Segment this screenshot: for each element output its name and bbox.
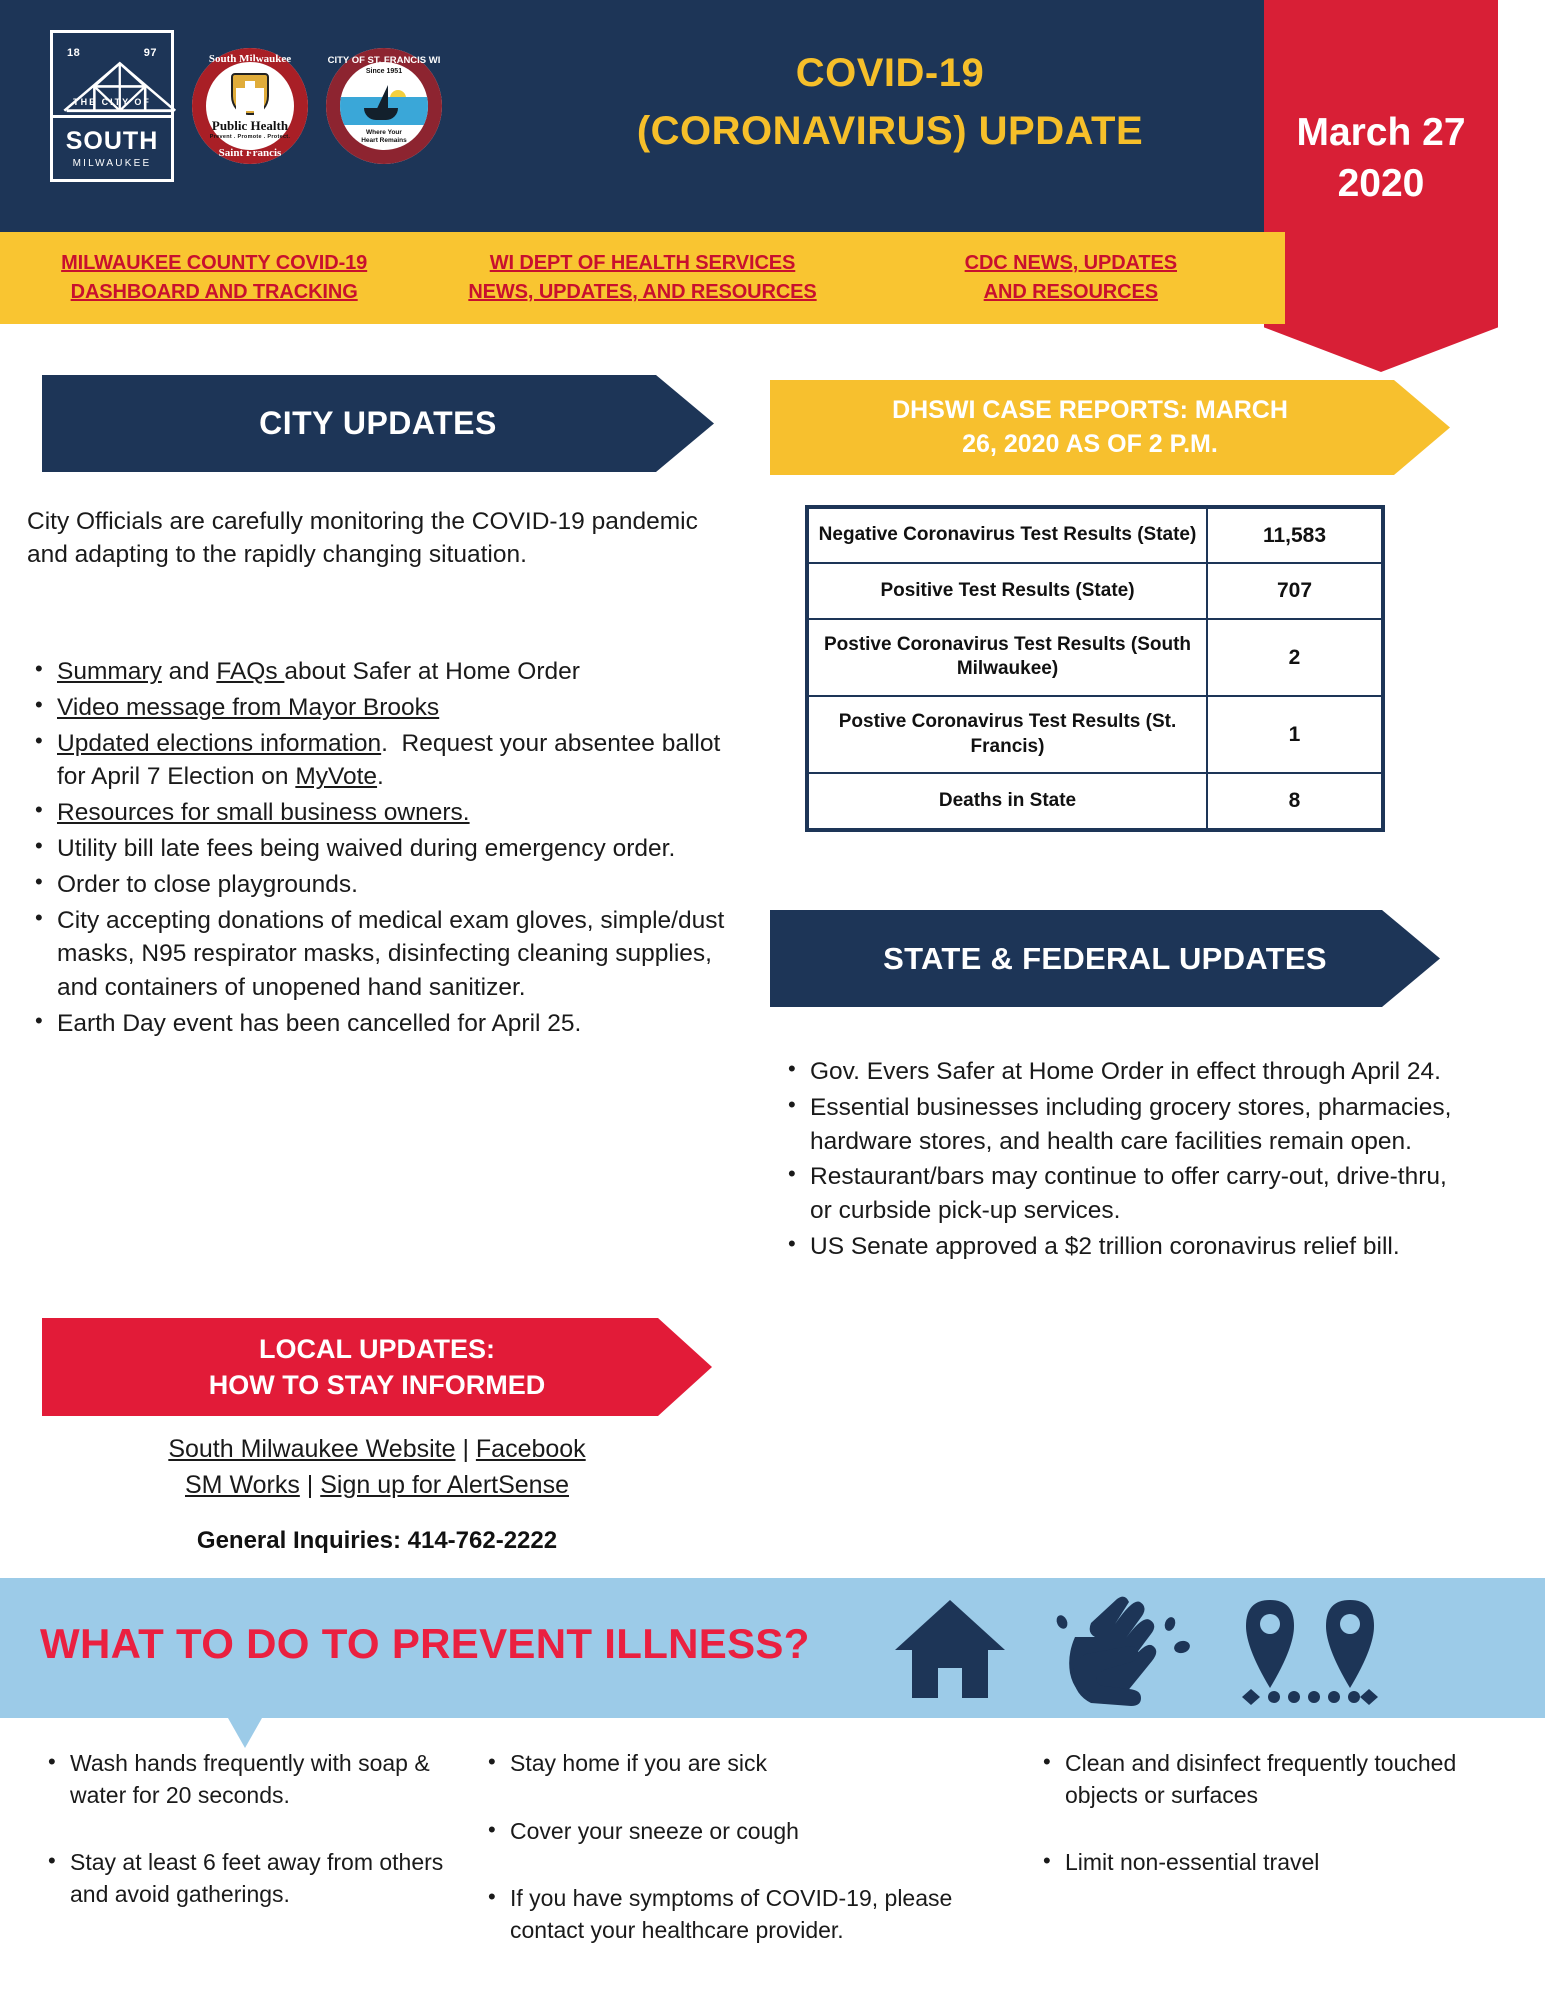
link-line-2: NEWS, UPDATES, AND RESOURCES xyxy=(428,278,856,307)
logo-bottom-panel: SOUTH MILWAUKEE xyxy=(53,118,171,179)
link-milwaukee-county-dashboard[interactable]: MILWAUKEE COUNTY COVID-19 DASHBOARD AND … xyxy=(0,249,428,307)
seal-inner: Since 1951 Where Your Heart Remains xyxy=(340,62,428,150)
table-row: Positive Test Results (State) 707 xyxy=(807,563,1383,618)
city-updates-banner-label: CITY UPDATES xyxy=(259,405,497,442)
list-item: Restaurant/bars may continue to offer ca… xyxy=(780,1160,1460,1228)
date-ribbon: March 27 2020 xyxy=(1264,0,1498,372)
link-cdc-news[interactable]: CDC NEWS, UPDATES AND RESOURCES xyxy=(857,249,1285,307)
logo-year-right: 97 xyxy=(144,47,157,59)
prevention-icons xyxy=(890,1592,1410,1707)
link-sm-works[interactable]: SM Works xyxy=(185,1471,300,1499)
link-wi-dhs-news[interactable]: WI DEPT OF HEALTH SERVICES NEWS, UPDATES… xyxy=(428,249,856,307)
public-health-title: Public Health xyxy=(212,118,288,134)
city-updates-banner: CITY UPDATES xyxy=(42,375,714,472)
link-line-1: MILWAUKEE COUNTY COVID-19 xyxy=(0,249,428,278)
list-item: Cover your sneeze or cough xyxy=(480,1816,1015,1848)
page-title: COVID-19 (CORONAVIRUS) UPDATE xyxy=(540,44,1240,160)
link-line-1: WI DEPT OF HEALTH SERVICES xyxy=(428,249,856,278)
link-faqs: FAQs xyxy=(216,658,284,685)
row-label: Postive Coronavirus Test Results (St. Fr… xyxy=(807,696,1207,773)
row-value: 2 xyxy=(1207,619,1383,696)
list-item: Clean and disinfect frequently touched o… xyxy=(1035,1748,1505,1811)
banner-notch xyxy=(228,1718,262,1748)
link-line-2: AND RESOURCES xyxy=(857,278,1285,307)
shield-cross-icon xyxy=(231,73,269,115)
list-item[interactable]: Summary and FAQs about Safer at Home Ord… xyxy=(27,655,747,689)
local-links: South Milwaukee Website | Facebook SM Wo… xyxy=(27,1432,727,1503)
link-line-1: CDC NEWS, UPDATES xyxy=(857,249,1285,278)
table-row: Deaths in State 8 xyxy=(807,773,1383,829)
list-item[interactable]: Updated elections information. Request y… xyxy=(27,727,747,795)
list-item: If you have symptoms of COVID-19, please… xyxy=(480,1883,1015,1946)
list-item[interactable]: Video message from Mayor Brooks xyxy=(27,691,747,725)
city-of-south-milwaukee-logo: 18 97 THE CITY OF SOUTH MILWAUKEE xyxy=(50,30,174,182)
case-reports-table: Negative Coronavirus Test Results (State… xyxy=(805,505,1385,832)
motto-line-2: Heart Remains xyxy=(340,137,428,145)
seal-inner: Public Health Prevent . Promote . Protec… xyxy=(205,61,295,151)
logo-top-panel: 18 97 THE CITY OF xyxy=(53,33,171,118)
row-label: Positive Test Results (State) xyxy=(807,563,1207,618)
logo-group: 18 97 THE CITY OF SOUTH MILWAUKEE xyxy=(50,30,442,182)
link-myvote: MyVote xyxy=(295,763,377,790)
list-item: Essential businesses including grocery s… xyxy=(780,1091,1460,1159)
row-value: 1 xyxy=(1207,696,1383,773)
list-item[interactable]: Resources for small business owners. xyxy=(27,796,747,830)
state-federal-updates-banner: STATE & FEDERAL UPDATES xyxy=(770,910,1440,1007)
prevent-illness-title: WHAT TO DO TO PREVENT ILLNESS? xyxy=(40,1620,810,1668)
row-label: Deaths in State xyxy=(807,773,1207,829)
prevention-column-3: Clean and disinfect frequently touched o… xyxy=(1015,1748,1505,1983)
home-icon xyxy=(895,1600,1005,1698)
page-title-line-2: (CORONAVIRUS) UPDATE xyxy=(540,102,1240,160)
local-banner-line-2: HOW TO STAY INFORMED xyxy=(209,1367,546,1403)
public-health-tagline: Prevent . Promote . Protect. xyxy=(210,134,291,140)
row-value: 11,583 xyxy=(1207,507,1383,563)
state-federal-list: Gov. Evers Safer at Home Order in effect… xyxy=(780,1055,1460,1266)
table-row: Negative Coronavirus Test Results (State… xyxy=(807,507,1383,563)
prevention-tips-columns: Wash hands frequently with soap & water … xyxy=(0,1748,1545,1983)
page-title-line-1: COVID-19 xyxy=(540,44,1240,102)
dhswi-banner-line-2: 26, 2020 AS OF 2 P.M. xyxy=(892,428,1288,462)
public-health-seal-logo: South Milwaukee Saint Francis Public Hea… xyxy=(192,48,308,164)
link-mayor-video: Video message from Mayor Brooks xyxy=(57,694,439,721)
link-summary: Summary xyxy=(57,658,162,685)
general-inquiries-phone: General Inquiries: 414-762-2222 xyxy=(27,1527,727,1555)
prevention-column-1: Wash hands frequently with soap & water … xyxy=(0,1748,470,1983)
table-row: Postive Coronavirus Test Results (St. Fr… xyxy=(807,696,1383,773)
link-alertsense[interactable]: Sign up for AlertSense xyxy=(320,1471,569,1499)
dhswi-case-reports-banner: DHSWI CASE REPORTS: MARCH 26, 2020 AS OF… xyxy=(770,380,1450,475)
list-item: Utility bill late fees being waived duri… xyxy=(27,832,747,866)
city-updates-intro: City Officials are carefully monitoring … xyxy=(27,505,717,572)
since-label: Since 1951 xyxy=(340,68,428,75)
local-links-row-2: SM Works | Sign up for AlertSense xyxy=(27,1468,727,1504)
list-item: US Senate approved a $2 trillion coronav… xyxy=(780,1230,1460,1264)
banner-fold xyxy=(42,1304,70,1318)
city-updates-list: Summary and FAQs about Safer at Home Ord… xyxy=(27,655,747,1043)
link-small-business: Resources for small business owners. xyxy=(57,799,470,826)
list-item: Gov. Evers Safer at Home Order in effect… xyxy=(780,1055,1460,1089)
motto-line-1: Where Your xyxy=(340,129,428,137)
resource-links-bar: MILWAUKEE COUNTY COVID-19 DASHBOARD AND … xyxy=(0,232,1285,324)
logo-year: 18 97 xyxy=(53,47,171,59)
row-label: Negative Coronavirus Test Results (State… xyxy=(807,507,1207,563)
prevention-column-2: Stay home if you are sick Cover your sne… xyxy=(470,1748,1015,1983)
row-label: Postive Coronavirus Test Results (South … xyxy=(807,619,1207,696)
logo-milwaukee-label: MILWAUKEE xyxy=(73,158,152,169)
list-item: Stay at least 6 feet away from others an… xyxy=(40,1847,470,1910)
link-sm-website[interactable]: South Milwaukee Website xyxy=(168,1435,455,1463)
social-distance-icon xyxy=(1242,1600,1378,1705)
banner-fold xyxy=(770,366,798,380)
flyer-page: 18 97 THE CITY OF SOUTH MILWAUKEE xyxy=(0,0,1545,2000)
list-item: Limit non-essential travel xyxy=(1035,1847,1505,1879)
list-item: Earth Day event has been cancelled for A… xyxy=(27,1007,747,1041)
header-banner: 18 97 THE CITY OF SOUTH MILWAUKEE xyxy=(0,0,1285,232)
row-value: 707 xyxy=(1207,563,1383,618)
st-francis-seal-logo: CITY OF ST. FRANCIS WI Since 1951 Where … xyxy=(326,48,442,164)
local-links-row-1: South Milwaukee Website | Facebook xyxy=(27,1432,727,1468)
list-item: Order to close playgrounds. xyxy=(27,868,747,902)
date-line-1: March 27 xyxy=(1264,108,1498,159)
logo-city-of-label: THE CITY OF xyxy=(53,97,171,107)
row-value: 8 xyxy=(1207,773,1383,829)
link-facebook[interactable]: Facebook xyxy=(476,1435,586,1463)
seal-motto: Where Your Heart Remains xyxy=(340,129,428,145)
logo-south-label: SOUTH xyxy=(66,129,159,154)
banner-fold xyxy=(42,361,70,375)
state-federal-banner-label: STATE & FEDERAL UPDATES xyxy=(883,941,1327,977)
list-item: City accepting donations of medical exam… xyxy=(27,904,747,1005)
list-item: Stay home if you are sick xyxy=(480,1748,1015,1780)
handwashing-icon xyxy=(1055,1597,1192,1706)
logo-year-left: 18 xyxy=(67,47,80,59)
dhswi-banner-line-1: DHSWI CASE REPORTS: MARCH xyxy=(892,394,1288,428)
link-line-2: DASHBOARD AND TRACKING xyxy=(0,278,428,307)
table-row: Postive Coronavirus Test Results (South … xyxy=(807,619,1383,696)
local-updates-banner: LOCAL UPDATES: HOW TO STAY INFORMED xyxy=(42,1318,712,1416)
local-banner-line-1: LOCAL UPDATES: xyxy=(209,1331,546,1367)
banner-fold xyxy=(770,896,798,910)
date-line-2: 2020 xyxy=(1264,159,1498,210)
list-item: Wash hands frequently with soap & water … xyxy=(40,1748,470,1811)
link-elections: Updated elections information xyxy=(57,730,381,757)
